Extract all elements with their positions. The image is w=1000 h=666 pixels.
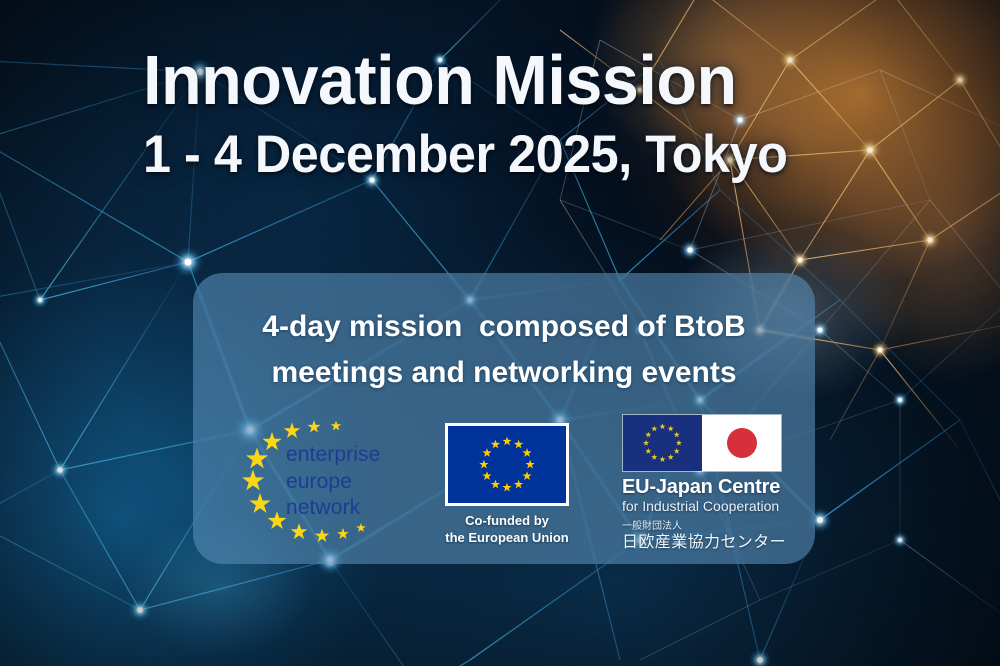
eu-caption-line-1: Co-funded by (438, 513, 576, 530)
card-copy-block: 4-day mission composed of BtoB meetings … (193, 304, 815, 395)
een-wordmark: enterprise europe network (286, 442, 380, 522)
een-word-network: network (286, 495, 380, 522)
euj-eu-flag-stars (623, 415, 702, 471)
info-card: 4-day mission composed of BtoB meetings … (193, 273, 815, 564)
page-title: Innovation Mission (143, 45, 903, 115)
euj-title: EU-Japan Centre (622, 477, 790, 498)
event-dates-location: 1 - 4 December 2025, Tokyo (143, 128, 903, 181)
japan-flag-icon (702, 415, 781, 471)
euj-subtitle: for Industrial Cooperation (622, 498, 790, 514)
eu-flag-stars (448, 426, 566, 503)
card-copy-line-2: meetings and networking events (193, 350, 815, 396)
eu-japan-centre-logo: EU-Japan Centre for Industrial Cooperati… (622, 414, 790, 552)
eu-caption-line-2: the European Union (438, 530, 576, 547)
euj-japanese-small: 一般財団法人 (622, 521, 790, 533)
card-copy-line-1: 4-day mission composed of BtoB (193, 304, 815, 350)
japan-flag-disc (727, 428, 757, 458)
enterprise-europe-network-logo: enterprise europe network (240, 416, 392, 548)
headline-block: Innovation Mission 1 - 4 December 2025, … (143, 45, 943, 181)
eu-japan-flags (622, 414, 782, 472)
een-word-enterprise: enterprise (286, 442, 380, 469)
euj-eu-flag-icon (623, 415, 702, 471)
innovation-mission-banner: Innovation Mission 1 - 4 December 2025, … (0, 0, 1000, 666)
eu-flag-icon (445, 423, 569, 506)
logo-strip: enterprise europe network (193, 414, 815, 554)
eu-co-funded-logo: Co-funded by the European Union (438, 423, 576, 547)
een-word-europe: europe (286, 469, 380, 496)
euj-japanese-main: 日欧産業協力センター (622, 533, 790, 552)
eu-caption: Co-funded by the European Union (438, 513, 576, 547)
